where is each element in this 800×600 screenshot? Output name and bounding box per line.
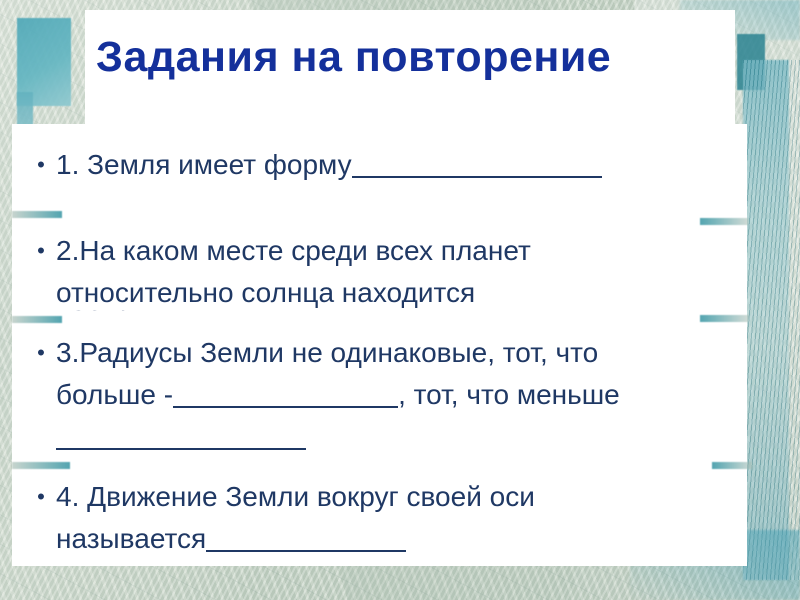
list-item: • 4. Движение Земли вокруг своей оси наз…: [12, 476, 747, 560]
list-item: • 2.На каком месте среди всех планет отн…: [12, 230, 747, 314]
fill-in-blank: [206, 550, 406, 552]
bullet-list: • 1. Земля имеет форму • 2.На каком мест…: [12, 124, 747, 566]
list-item-text: 3.Радиусы Земли не одинаковые, тот, что …: [56, 332, 747, 458]
slide-title: Задания на повторение: [96, 36, 736, 79]
fill-in-blank: [173, 406, 398, 408]
slide-canvas: Задания на повторение • 1. Земля имеет ф…: [0, 0, 800, 600]
list-item-text: 1. Земля имеет форму: [56, 144, 747, 186]
list-item-line: 1. Земля имеет форму: [56, 149, 352, 180]
bullet-marker-icon: •: [12, 230, 56, 272]
list-item-text: 2.На каком месте среди всех планет относ…: [56, 230, 747, 314]
fill-in-blank: [352, 176, 602, 178]
accent-right-hatch: [743, 60, 800, 580]
clipped-overlap-text: Земля: [70, 310, 370, 322]
list-item-line: 4. Движение Земли вокруг своей оси: [56, 481, 535, 512]
list-item-text: 4. Движение Земли вокруг своей оси назыв…: [56, 476, 747, 560]
bullet-marker-icon: •: [12, 332, 56, 374]
list-item-line: больше -: [56, 379, 173, 410]
clipped-overlap-text-value: Земля: [70, 310, 370, 322]
list-item: • 3.Радиусы Земли не одинаковые, тот, чт…: [12, 332, 747, 458]
fill-in-blank: [56, 448, 306, 450]
bullet-marker-icon: •: [12, 476, 56, 518]
list-item-line: называется: [56, 523, 206, 554]
list-item: • 1. Земля имеет форму: [12, 144, 747, 186]
list-item-line-suffix: , тот, что меньше: [398, 379, 620, 410]
bullet-marker-icon: •: [12, 144, 56, 186]
list-item-line: относительно солнца находится: [56, 277, 475, 308]
list-item-line: 2.На каком месте среди всех планет: [56, 235, 531, 266]
list-item-line: 3.Радиусы Земли не одинаковые, тот, что: [56, 337, 598, 368]
